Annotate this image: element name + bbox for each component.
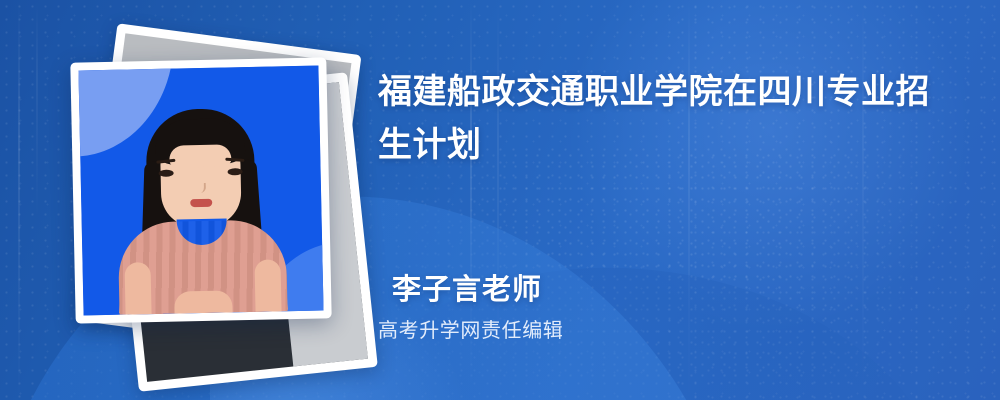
portrait-figure bbox=[113, 97, 289, 315]
background-streak-2 bbox=[36, 0, 38, 220]
banner-stage: 福建船政交通职业学院在四川专业招生计划 李子言老师 高考升学网责任编辑 bbox=[0, 0, 1000, 400]
author-name: 李子言老师 bbox=[392, 272, 542, 308]
portrait-arm-right bbox=[254, 259, 281, 312]
portrait-hands bbox=[174, 290, 232, 313]
page-title: 福建船政交通职业学院在四川专业招生计划 bbox=[378, 66, 963, 172]
banner-text-column: 福建船政交通职业学院在四川专业招生计划 李子言老师 高考升学网责任编辑 bbox=[378, 0, 978, 400]
photo-card-stack bbox=[45, 28, 365, 373]
portrait-photo-icon bbox=[70, 57, 331, 323]
portrait-lips bbox=[190, 199, 212, 207]
portrait-arm-left bbox=[124, 262, 151, 315]
background-streak-1 bbox=[18, 0, 20, 400]
author-role: 高考升学网责任编辑 bbox=[378, 317, 563, 345]
